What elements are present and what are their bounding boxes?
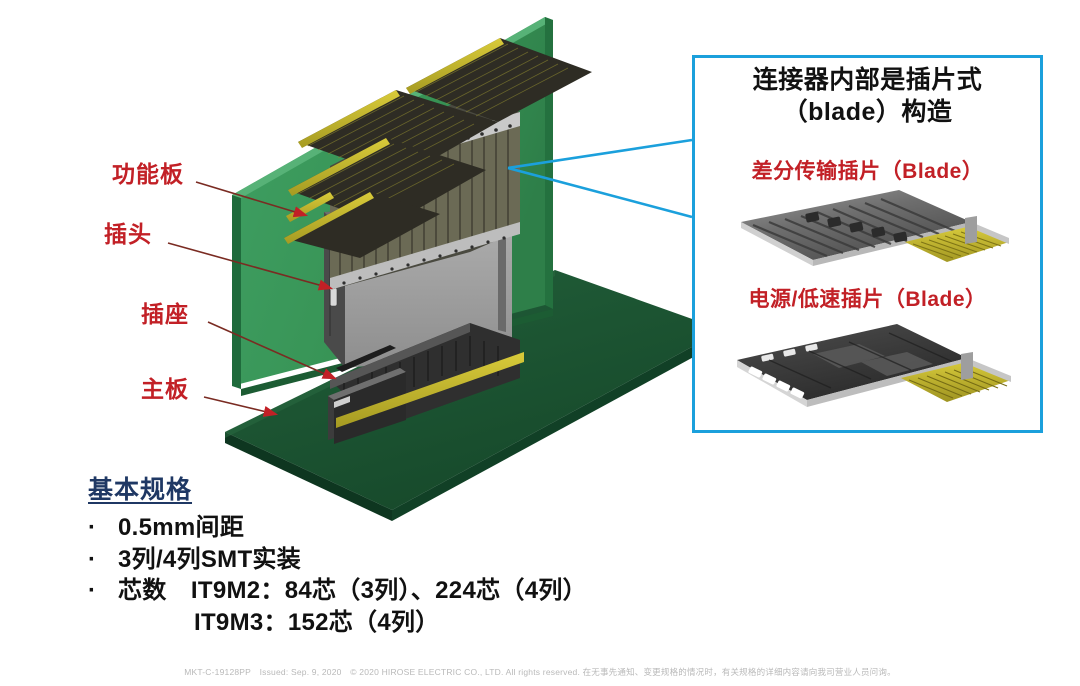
differential-blade-heading: 差分传输插片（Blade）	[695, 155, 1040, 185]
spec-item-pincount: · 芯数 IT9M2：84芯（3列）、224芯（4列）	[88, 575, 728, 607]
power-lowspeed-blade-heading: 电源/低速插片（Blade）	[695, 283, 1040, 313]
blade-callout-box: 连接器内部是插片式 （blade）构造 差分传输插片（Blade）	[692, 55, 1043, 433]
callout-title-line-2: （blade）构造	[695, 96, 1040, 128]
blue-callout-leader	[508, 140, 692, 217]
leader-main-board	[204, 397, 275, 414]
leader-receptacle	[208, 322, 334, 378]
spec-heading: 基本规格	[88, 470, 192, 506]
footer-legal-text: MKT-C-19128PP Issued: Sep. 9, 2020 © 202…	[0, 666, 1080, 678]
spec-item-pitch: · 0.5mm间距	[88, 512, 728, 544]
plug-body-art	[324, 206, 512, 368]
spec-item-pincount-continuation: IT9M3：152芯（4列）	[88, 607, 728, 639]
differential-signal-blade-image	[709, 186, 1031, 278]
receptacle-art	[328, 323, 524, 444]
bullet-glyph: ·	[88, 575, 118, 607]
basic-specifications-block: 基本规格 · 0.5mm间距 · 3列/4列SMT实装 · 芯数 IT9M2：8…	[88, 470, 728, 639]
label-receptacle: 插座	[141, 303, 189, 326]
leader-functional-board	[196, 182, 305, 215]
spec-item-text: 芯数 IT9M2：84芯（3列）、224芯（4列）	[118, 575, 728, 607]
bullet-glyph: ·	[88, 512, 118, 544]
label-functional-board: 功能板	[112, 163, 184, 186]
spec-item-text: 3列/4列SMT实装	[118, 544, 728, 576]
red-leader-lines	[168, 182, 334, 414]
callout-title: 连接器内部是插片式 （blade）构造	[695, 64, 1040, 128]
slide-canvas: 功能板 插头 插座 主板 连接器内部是插片式 （blade）构造 差分传输插片（…	[0, 0, 1080, 686]
callout-title-line-1: 连接器内部是插片式	[695, 64, 1040, 96]
functional-board-art	[232, 17, 553, 396]
label-plug: 插头	[104, 223, 152, 246]
spec-item-text: 0.5mm间距	[118, 512, 728, 544]
spec-item-smt: · 3列/4列SMT实装	[88, 544, 728, 576]
leader-plug	[168, 243, 330, 288]
bullet-glyph: ·	[88, 544, 118, 576]
label-main-board: 主板	[141, 378, 189, 401]
power-lowspeed-blade-image	[709, 314, 1031, 424]
blade-stack-art	[284, 38, 592, 290]
